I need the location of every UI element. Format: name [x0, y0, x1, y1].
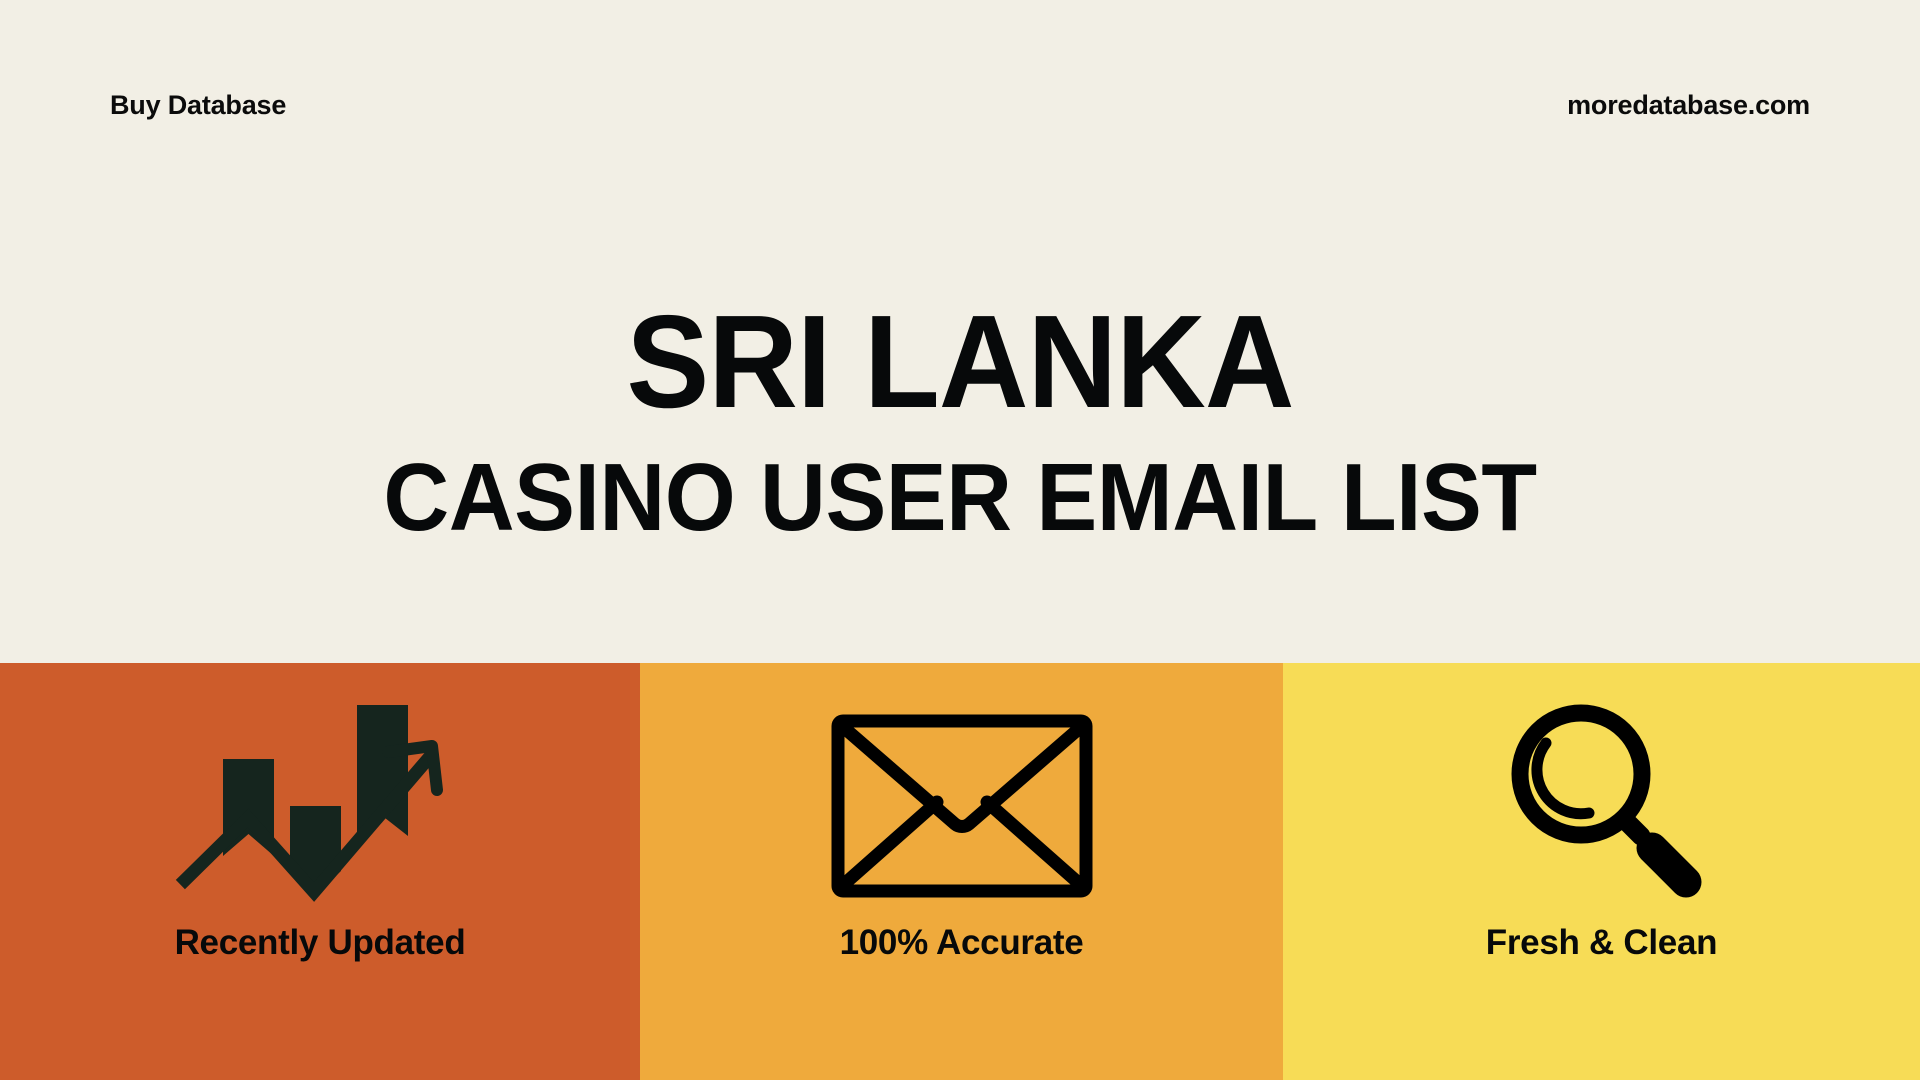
magnifying-glass-icon	[1502, 677, 1702, 919]
website-url-label: moredatabase.com	[1567, 92, 1810, 119]
promo-banner: Buy Database moredatabase.com SRI LANKA …	[0, 0, 1920, 1080]
hero-section: Buy Database moredatabase.com SRI LANKA …	[0, 0, 1920, 663]
feature-panels: Recently Updated 100% Accurate	[0, 663, 1920, 1080]
feature-label-fresh-clean: Fresh & Clean	[1486, 925, 1717, 960]
feature-label-recently-updated: Recently Updated	[175, 925, 466, 960]
feature-label-accurate: 100% Accurate	[840, 925, 1084, 960]
brand-label-left: Buy Database	[110, 92, 286, 119]
page-title: SRI LANKA	[58, 300, 1863, 424]
page-subtitle: CASINO USER EMAIL LIST	[48, 450, 1872, 546]
feature-panel-accurate: 100% Accurate	[640, 663, 1283, 1080]
bar-chart-growth-icon	[175, 687, 465, 919]
top-bar: Buy Database moredatabase.com	[0, 0, 1920, 210]
title-block: SRI LANKA CASINO USER EMAIL LIST	[0, 300, 1920, 546]
envelope-icon	[831, 693, 1093, 919]
feature-panel-fresh-clean: Fresh & Clean	[1283, 663, 1920, 1080]
feature-panel-recently-updated: Recently Updated	[0, 663, 640, 1080]
